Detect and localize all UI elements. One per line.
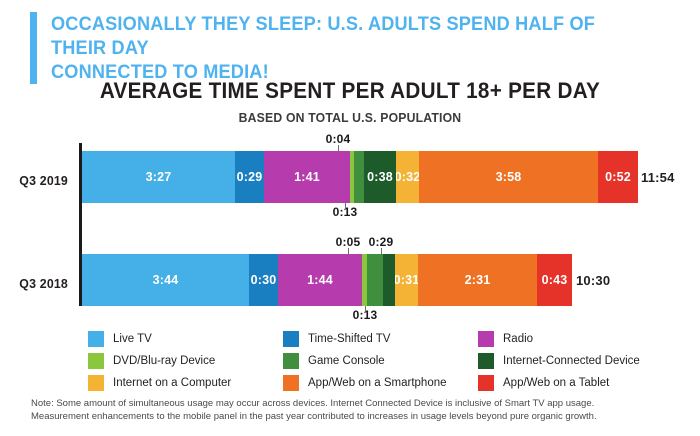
legend-swatch (88, 375, 104, 391)
legend-item[interactable]: Internet-Connected Device (478, 353, 668, 369)
legend-row: Internet on a ComputerApp/Web on a Smart… (88, 372, 668, 394)
bar-segment-value: 0:30 (251, 273, 277, 287)
infographic-root: OCCASIONALLY THEY SLEEP: U.S. ADULTS SPE… (0, 0, 700, 436)
bar-segment-value: 1:44 (307, 273, 333, 287)
category-label-q3-2018: Q3 2018 (19, 276, 68, 291)
legend-swatch (478, 353, 494, 369)
bar-segment-value: 0:43 (542, 273, 568, 287)
category-label-q3-2019: Q3 2019 (19, 173, 68, 188)
legend-label: App/Web on a Tablet (503, 377, 609, 389)
chart-legend: Live TVTime-Shifted TVRadioDVD/Blu-ray D… (88, 328, 668, 394)
bar-segment: 3:27 (82, 151, 235, 203)
legend-swatch (478, 375, 494, 391)
bar-segment-value: 2:31 (465, 273, 491, 287)
segment-callout-label: 0:05 (336, 235, 361, 249)
segment-callout-leader (365, 306, 366, 312)
legend-item[interactable]: Live TV (88, 331, 283, 347)
legend-swatch (478, 331, 494, 347)
bar-segment-value: 0:31 (395, 273, 418, 287)
legend-label: App/Web on a Smartphone (308, 377, 447, 389)
footnote: Note: Some amount of simultaneous usage … (31, 398, 676, 423)
legend-item[interactable]: App/Web on a Smartphone (283, 375, 478, 391)
bar-segment-value: 0:32 (396, 170, 419, 184)
legend-label: Radio (503, 333, 533, 345)
legend-label: Internet on a Computer (113, 377, 231, 389)
bar-segment: 0:43 (537, 254, 572, 306)
footnote-line-2: Measurement enhancements to the mobile p… (31, 411, 676, 424)
legend-label: Internet-Connected Device (503, 355, 640, 367)
total-label-q3-2019: 11:54 (641, 170, 675, 185)
legend-swatch (88, 353, 104, 369)
bar-segment (354, 151, 364, 203)
legend-swatch (88, 331, 104, 347)
bar-segment: 0:38 (364, 151, 396, 203)
segment-callout-label: 0:29 (369, 235, 394, 249)
segment-callout-leader (338, 145, 339, 151)
legend-item[interactable]: Radio (478, 331, 668, 347)
legend-item[interactable]: DVD/Blu-ray Device (88, 353, 283, 369)
bar-segment-value: 3:27 (146, 170, 172, 184)
footnote-line-1: Note: Some amount of simultaneous usage … (31, 398, 676, 411)
legend-label: DVD/Blu-ray Device (113, 355, 215, 367)
bar-segment: 0:31 (395, 254, 418, 306)
legend-item[interactable]: Time-Shifted TV (283, 331, 478, 347)
total-label-q3-2018: 10:30 (576, 273, 610, 288)
bar-segment (367, 254, 383, 306)
legend-label: Time-Shifted TV (308, 333, 390, 345)
bar-segment-value: 0:52 (605, 170, 631, 184)
bar-segment: 0:52 (598, 151, 638, 203)
legend-row: Live TVTime-Shifted TVRadio (88, 328, 668, 350)
bar-segment-value: 0:29 (237, 170, 263, 184)
segment-callout-leader (345, 203, 346, 209)
legend-swatch (283, 375, 299, 391)
stacked-bar-q3-2018: 3:440:301:440:312:310:43 (82, 254, 572, 306)
bar-segment: 0:29 (235, 151, 264, 203)
stacked-bar-q3-2019: 3:270:291:410:380:323:580:52 (82, 151, 638, 203)
bar-segment: 3:44 (82, 254, 249, 306)
bar-segment: 3:58 (419, 151, 598, 203)
bar-segment: 1:44 (278, 254, 362, 306)
legend-swatch (283, 353, 299, 369)
bar-segment-value: 0:38 (367, 170, 393, 184)
legend-label: Live TV (113, 333, 152, 345)
segment-callout-leader (381, 248, 382, 254)
segment-callout-leader (348, 248, 349, 254)
legend-row: DVD/Blu-ray DeviceGame ConsoleInternet-C… (88, 350, 668, 372)
legend-item[interactable]: Game Console (283, 353, 478, 369)
bar-segment: 0:30 (249, 254, 278, 306)
bar-segment-value: 3:44 (153, 273, 179, 287)
legend-label: Game Console (308, 355, 385, 367)
legend-item[interactable]: Internet on a Computer (88, 375, 283, 391)
legend-swatch (283, 331, 299, 347)
segment-callout-label: 0:04 (326, 132, 351, 146)
bar-segment: 0:32 (396, 151, 419, 203)
bar-segment: 2:31 (418, 254, 537, 306)
bar-segment-value: 3:58 (496, 170, 522, 184)
legend-item[interactable]: App/Web on a Tablet (478, 375, 668, 391)
bar-segment-value: 1:41 (294, 170, 320, 184)
bar-segment (383, 254, 395, 306)
bar-segment: 1:41 (264, 151, 350, 203)
